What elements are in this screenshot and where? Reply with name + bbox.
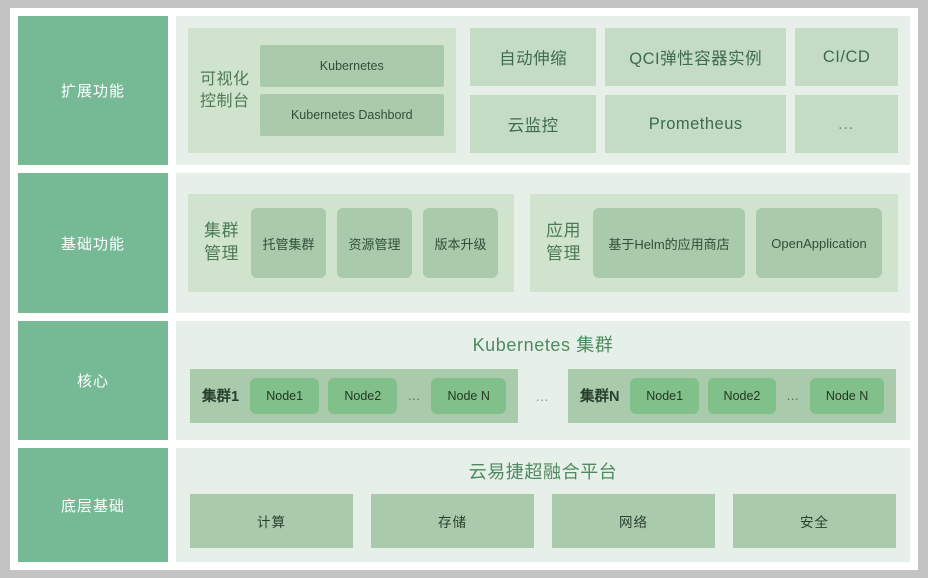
application-management-group: 应用 管理 基于Helm的应用商店 OpenApplication [530,194,898,292]
visual-console-group: 可视化 控制台 Kubernetes Kubernetes Dashbord [188,28,456,153]
node-1-n[interactable]: Node N [431,378,506,414]
panel-basic: 集群 管理 托管集群 资源管理 版本升级 应用 管理 [176,173,910,312]
console-item-kubernetes[interactable]: Kubernetes [260,45,444,87]
visual-console-title-line2: 控制台 [200,91,250,113]
layer-row-extended: 扩展功能 可视化 控制台 Kubernetes Kubernetes Dashb… [18,16,910,165]
infra-item-network[interactable]: 网络 [552,494,715,548]
cluster-band-1: 集群1 Node1 Node2 … Node N [190,369,518,423]
layer-label-extended: 扩展功能 [18,16,168,165]
console-item-kubernetes-dashboard[interactable]: Kubernetes Dashbord [260,94,444,136]
layer-label-core: 核心 [18,321,168,441]
infra-item-security[interactable]: 安全 [733,494,896,548]
tile-ci-cd[interactable]: CI/CD [795,28,898,86]
extended-tile-grid: 自动伸缩 QCI弹性容器实例 CI/CD 云监控 Prometheus … [470,28,898,153]
node-1-2[interactable]: Node2 [328,378,397,414]
item-version-upgrade[interactable]: 版本升级 [423,208,498,278]
visual-console-title: 可视化 控制台 [200,69,250,112]
cluster-management-title: 集群 管理 [204,220,239,266]
basic-body: 集群 管理 托管集群 资源管理 版本升级 应用 管理 [188,185,898,300]
diagram-canvas: 扩展功能 可视化 控制台 Kubernetes Kubernetes Dashb… [0,0,928,578]
item-helm-app-store[interactable]: 基于Helm的应用商店 [593,208,745,278]
layer-row-core: 核心 Kubernetes 集群 集群1 Node1 Node2 … Node … [18,321,910,441]
visual-console-title-line1: 可视化 [200,69,250,91]
infrastructure-items: 计算 存储 网络 安全 [190,494,896,548]
tile-autoscaling[interactable]: 自动伸缩 [470,28,596,86]
item-resource-management[interactable]: 资源管理 [337,208,412,278]
layer-label-basic: 基础功能 [18,173,168,312]
application-management-title-line1: 应用 [546,220,581,243]
cluster-management-items: 托管集群 资源管理 版本升级 [251,208,498,278]
cluster-management-title-line2: 管理 [204,243,239,266]
layer-row-infrastructure: 底层基础 云易捷超融合平台 计算 存储 网络 安全 [18,448,910,562]
item-managed-cluster[interactable]: 托管集群 [251,208,326,278]
node-1-1[interactable]: Node1 [250,378,319,414]
cluster-1-node-ellipsis: … [406,388,422,403]
tile-more-ellipsis: … [795,95,898,153]
cluster-separator-ellipsis: … [526,388,560,404]
layer-row-basic: 基础功能 集群 管理 托管集群 资源管理 版本升级 [18,173,910,312]
extended-body: 可视化 控制台 Kubernetes Kubernetes Dashbord 自… [188,28,898,153]
node-n-1[interactable]: Node1 [630,378,698,414]
tile-prometheus[interactable]: Prometheus [605,95,786,153]
cluster-band-n: 集群N Node1 Node2 … Node N [568,369,896,423]
visual-console-items: Kubernetes Kubernetes Dashbord [260,45,444,136]
core-body: 集群1 Node1 Node2 … Node N … 集群N Node1 Nod… [190,365,896,427]
cluster-name-1: 集群1 [202,385,241,406]
panel-core: Kubernetes 集群 集群1 Node1 Node2 … Node N …… [176,321,910,441]
node-n-n[interactable]: Node N [810,378,884,414]
infrastructure-title: 云易捷超融合平台 [190,456,896,494]
application-management-title: 应用 管理 [546,220,581,266]
tile-qci-elastic-container-instance[interactable]: QCI弹性容器实例 [605,28,786,86]
cluster-name-n: 集群N [580,385,621,406]
cluster-management-group: 集群 管理 托管集群 资源管理 版本升级 [188,194,514,292]
tile-cloud-monitoring[interactable]: 云监控 [470,95,596,153]
infra-item-storage[interactable]: 存储 [371,494,534,548]
cluster-management-title-line1: 集群 [204,220,239,243]
layer-label-infrastructure: 底层基础 [18,448,168,562]
cluster-n-node-ellipsis: … [785,388,801,403]
panel-infrastructure: 云易捷超融合平台 计算 存储 网络 安全 [176,448,910,562]
diagram-sheet: 扩展功能 可视化 控制台 Kubernetes Kubernetes Dashb… [10,8,918,570]
panel-extended: 可视化 控制台 Kubernetes Kubernetes Dashbord 自… [176,16,910,165]
application-management-title-line2: 管理 [546,243,581,266]
item-open-application[interactable]: OpenApplication [756,208,882,278]
infra-item-compute[interactable]: 计算 [190,494,353,548]
core-title: Kubernetes 集群 [190,329,896,365]
node-n-2[interactable]: Node2 [708,378,776,414]
application-management-items: 基于Helm的应用商店 OpenApplication [593,208,882,278]
